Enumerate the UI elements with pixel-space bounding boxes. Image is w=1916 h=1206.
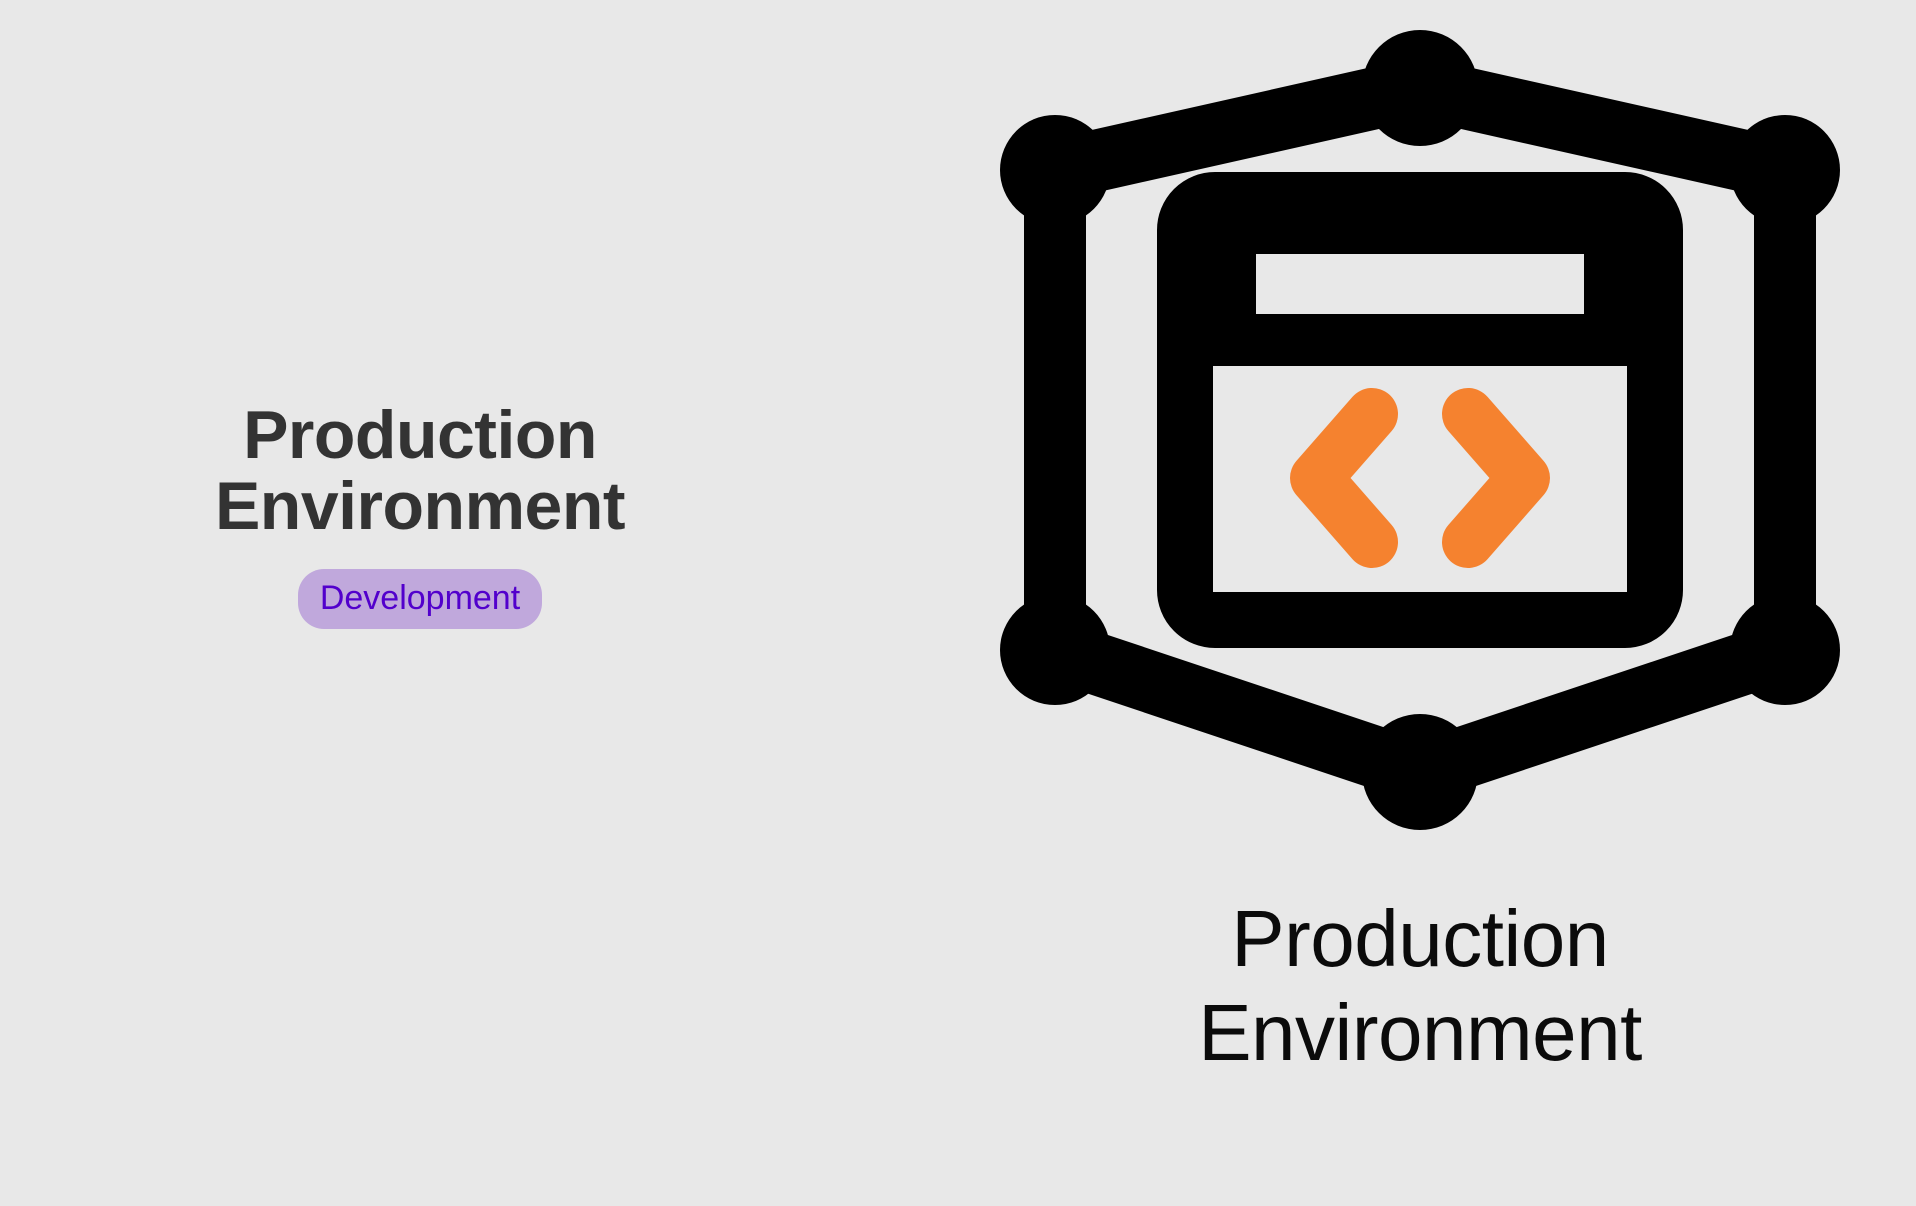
page-title: Production Environment	[215, 400, 625, 543]
window-title-bar	[1256, 254, 1584, 314]
canvas-root: Production Environment Development	[0, 0, 1916, 1206]
node-bottom-right	[1730, 595, 1840, 705]
node-top-left	[1000, 115, 1110, 225]
hexagon-node-code-window-icon	[1000, 10, 1840, 870]
window-title-bar-top-band	[1213, 228, 1627, 254]
node-bottom-left	[1000, 595, 1110, 705]
badge-row: Development	[298, 569, 542, 629]
node-top-center	[1362, 30, 1478, 146]
node-top-right	[1730, 115, 1840, 225]
node-bottom-center	[1362, 714, 1478, 830]
icon-group: Production Environment	[960, 10, 1880, 1081]
window-title-bar-left-gutter	[1213, 254, 1256, 314]
status-badge[interactable]: Development	[298, 569, 542, 629]
window-title-bar-right-gutter	[1584, 254, 1627, 314]
left-label-group: Production Environment Development	[60, 400, 780, 629]
window-title-bar-divider	[1213, 314, 1627, 366]
icon-caption: Production Environment	[1198, 892, 1642, 1081]
